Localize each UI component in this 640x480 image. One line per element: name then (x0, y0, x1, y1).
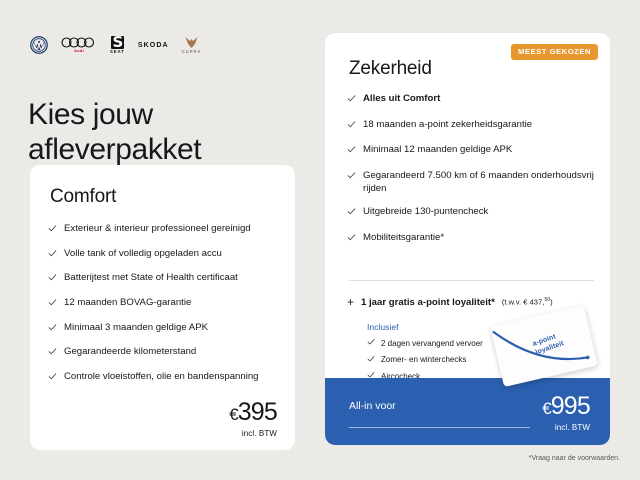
currency-symbol: € (229, 405, 237, 424)
check-icon (367, 355, 375, 366)
list-item-label: Alles uit Comfort (363, 93, 596, 106)
check-icon (347, 233, 356, 247)
list-item-label: Batterijtest met State of Health certifi… (64, 272, 281, 285)
list-item-label: 2 dagen vervangend vervoer (381, 339, 483, 349)
list-item: Gegarandeerd 7.500 km of 6 maanden onder… (347, 170, 596, 195)
inclusief-title: Inclusief (367, 322, 483, 332)
zekerheid-feature-list: Alles uit Comfort 18 maanden a-point zek… (347, 93, 596, 258)
list-item: Batterijtest met State of Health certifi… (48, 272, 281, 287)
list-item: Controle vloeistoffen, olie en bandenspa… (48, 371, 281, 386)
check-icon (347, 145, 356, 159)
left-column: Audi S SEAT SKODA CUPRA Kies jouw afleve… (0, 0, 320, 480)
audi-logo-icon: Audi (61, 37, 97, 53)
volkswagen-logo-icon (30, 36, 48, 54)
comfort-package-card[interactable]: Comfort Exterieur & interieur profession… (30, 165, 295, 450)
list-item-label: Exterieur & interieur professioneel gere… (64, 223, 281, 236)
list-item-label: 12 maanden BOVAG-garantie (64, 297, 281, 310)
list-item: Volle tank of volledig opgeladen accu (48, 248, 281, 263)
list-item: 12 maanden BOVAG-garantie (48, 297, 281, 312)
allin-label: All-in voor (349, 400, 396, 412)
seat-mark: S (111, 36, 125, 50)
list-item-label: Minimaal 3 maanden geldige APK (64, 322, 281, 335)
page-title: Kies jouw afleverpakket (28, 98, 308, 167)
list-item: Gegarandeerde kilometerstand (48, 346, 281, 361)
comfort-vat-note: incl. BTW (229, 429, 277, 438)
footer-underline (349, 427, 530, 428)
check-icon (48, 249, 57, 263)
skoda-logo-icon: SKODA (138, 42, 169, 49)
brand-logo-bar: Audi S SEAT SKODA CUPRA (30, 33, 202, 57)
check-icon (48, 323, 57, 337)
zekerheid-card-title: Zekerheid (349, 58, 432, 80)
bonus-value-note: (t.w.v. € 437,50) (502, 297, 553, 307)
zekerheid-vat-note: incl. BTW (542, 423, 590, 432)
list-item: Mobiliteitsgarantie* (347, 232, 596, 247)
list-item: 2 dagen vervangend vervoer (367, 338, 483, 349)
comfort-card-title: Comfort (50, 186, 116, 208)
check-icon (48, 372, 57, 386)
plus-icon: + (347, 296, 354, 308)
bonus-label: 1 jaar gratis a-point loyaliteit* (361, 297, 495, 308)
audi-wordmark: Audi (74, 49, 84, 53)
list-item-label: Mobiliteitsgarantie* (363, 232, 596, 245)
check-icon (48, 298, 57, 312)
skoda-wordmark: SKODA (138, 42, 169, 49)
list-item-label: Volle tank of volledig opgeladen accu (64, 248, 281, 261)
zekerheid-price-block: €995 incl. BTW (542, 394, 590, 432)
zekerheid-package-card[interactable]: MEEST GEKOZEN Zekerheid Alles uit Comfor… (325, 33, 610, 445)
footnote: *Vraag naar de voorwaarden. (529, 455, 620, 462)
promo-page: Audi S SEAT SKODA CUPRA Kies jouw afleve… (0, 0, 640, 480)
list-item-label: Controle vloeistoffen, olie en bandenspa… (64, 371, 281, 384)
list-item: Exterieur & interieur professioneel gere… (48, 223, 281, 238)
comfort-price: €395 (229, 400, 277, 425)
cupra-wordmark: CUPRA (182, 50, 202, 54)
zekerheid-price-footer: All-in voor €995 incl. BTW (325, 378, 610, 445)
comfort-feature-list: Exterieur & interieur professioneel gere… (48, 223, 281, 396)
currency-symbol: € (542, 399, 550, 418)
check-icon (347, 207, 356, 221)
check-icon (347, 94, 356, 108)
check-icon (347, 120, 356, 134)
list-item-label: 18 maanden a-point zekerheidsgarantie (363, 119, 596, 132)
list-item: Minimaal 12 maanden geldige APK (347, 144, 596, 159)
list-item: Uitgebreide 130-puntencheck (347, 206, 596, 221)
headline-line-1: Kies jouw (28, 98, 153, 131)
check-icon (48, 224, 57, 238)
seat-logo-icon: S SEAT (110, 36, 125, 55)
list-item: Zomer- en winterchecks (367, 355, 483, 366)
list-item: Minimaal 3 maanden geldige APK (48, 322, 281, 337)
price-value: 395 (238, 398, 277, 426)
list-item-label: Zomer- en winterchecks (381, 355, 466, 365)
check-icon (367, 338, 375, 349)
list-item-label: Gegarandeerde kilometerstand (64, 346, 281, 359)
bonus-value-suffix: ) (550, 298, 553, 307)
cupra-logo-icon: CUPRA (182, 36, 202, 54)
bonus-value-prefix: (t.w.v. € 437, (502, 298, 545, 307)
seat-wordmark: SEAT (110, 50, 125, 54)
list-item-label: Minimaal 12 maanden geldige APK (363, 144, 596, 157)
zekerheid-price: €995 (542, 394, 590, 419)
list-item: Alles uit Comfort (347, 93, 596, 108)
list-item-label: Uitgebreide 130-puntencheck (363, 206, 596, 219)
list-item: 18 maanden a-point zekerheidsgarantie (347, 119, 596, 134)
headline-line-2: afleverpakket (28, 133, 201, 166)
check-icon (48, 347, 57, 361)
bonus-row: + 1 jaar gratis a-point loyaliteit* (t.w… (347, 295, 598, 308)
list-item-label: Gegarandeerd 7.500 km of 6 maanden onder… (363, 170, 596, 195)
price-value: 995 (551, 392, 590, 420)
status-badge: MEEST GEKOZEN (511, 44, 598, 60)
comfort-price-block: €395 incl. BTW (229, 400, 277, 438)
check-icon (347, 171, 356, 185)
check-icon (48, 273, 57, 287)
section-divider (349, 280, 594, 281)
